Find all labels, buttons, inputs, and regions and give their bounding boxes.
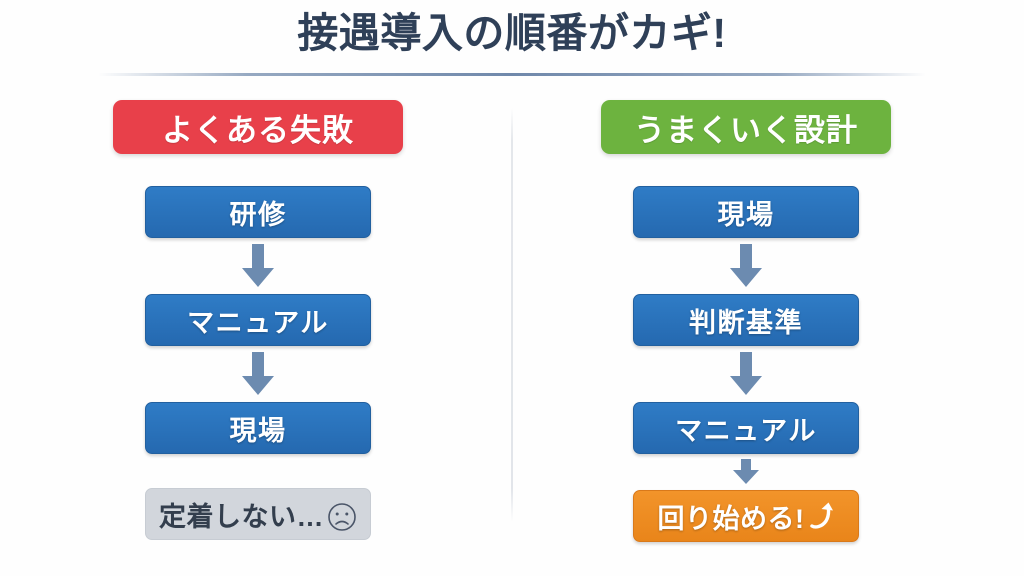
flow-node-failure-3[interactable]: 現場 — [145, 402, 371, 454]
flow-node-success-outcome[interactable]: 回り始める! — [633, 490, 859, 542]
flow-node-success-3[interactable]: マニュアル — [633, 402, 859, 454]
column-failure: よくある失敗 研修 マニュアル 現場 定着しない… — [58, 100, 458, 540]
title-divider-rule — [98, 73, 926, 76]
page-title: 接遇導入の順番がカギ! — [297, 8, 726, 59]
column-success: うまくいく設計 現場 判断基準 マニュアル — [546, 100, 946, 542]
flow-node-failure-outcome: 定着しない… — [145, 488, 371, 540]
flow-node-failure-outcome-label: 定着しない… — [159, 495, 324, 534]
flow-node-failure-2[interactable]: マニュアル — [145, 294, 371, 346]
slide-canvas: 接遇導入の順番がカギ! よくある失敗 研修 マニュアル — [0, 0, 1024, 576]
flow-success: 現場 判断基準 マニュアル — [633, 186, 859, 542]
flow-node-success-1[interactable]: 現場 — [633, 186, 859, 238]
arrow-down-icon — [241, 352, 275, 396]
flow-failure: 研修 マニュアル 現場 定着しない… — [145, 186, 371, 540]
column-header-success: うまくいく設計 — [601, 100, 891, 154]
arrow-down-short-icon — [732, 459, 760, 485]
center-divider — [511, 108, 513, 522]
page-title-wrap: 接遇導入の順番がカギ! — [0, 8, 1024, 59]
flow-node-success-2[interactable]: 判断基準 — [633, 294, 859, 346]
arrow-down-icon — [729, 352, 763, 396]
curved-up-arrow-icon — [809, 499, 835, 529]
arrow-down-icon — [241, 244, 275, 288]
flow-node-success-outcome-label: 回り始める! — [658, 497, 805, 536]
arrow-down-icon — [729, 244, 763, 288]
sad-face-icon — [327, 502, 357, 532]
flow-node-failure-1[interactable]: 研修 — [145, 186, 371, 238]
column-header-failure: よくある失敗 — [113, 100, 403, 154]
